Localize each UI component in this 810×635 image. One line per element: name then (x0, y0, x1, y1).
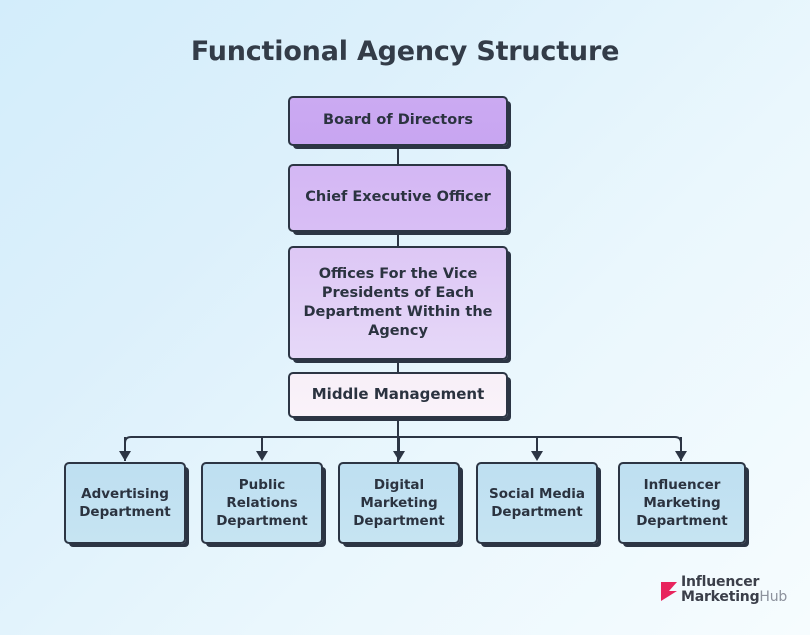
arrowhead-4 (675, 451, 687, 461)
brand-logo[interactable]: Influencer MarketingHub (660, 575, 787, 605)
node-label: Chief Executive Officer (298, 188, 498, 207)
node-label: Board of Directors (298, 111, 498, 130)
node-label: Digital Marketing Department (348, 476, 450, 530)
node-public-relations-department[interactable]: Public Relations Department (201, 462, 323, 544)
node-label: Public Relations Department (211, 476, 313, 530)
node-label: Middle Management (298, 385, 498, 405)
node-label: Social Media Department (486, 485, 588, 521)
logo-word-hub: Hub (759, 589, 787, 605)
edge-bus (125, 437, 681, 461)
diagram-canvas: Functional Agency Structure (0, 0, 810, 635)
arrowhead-2 (393, 451, 405, 461)
node-chief-executive-officer[interactable]: Chief Executive Officer (288, 164, 508, 232)
node-influencer-marketing-department[interactable]: Influencer Marketing Department (618, 462, 746, 544)
node-label: Advertising Department (74, 485, 176, 521)
node-label: Influencer Marketing Department (628, 476, 736, 530)
node-board-of-directors[interactable]: Board of Directors (288, 96, 508, 146)
page-title: Functional Agency Structure (0, 36, 810, 67)
node-social-media-department[interactable]: Social Media Department (476, 462, 598, 544)
logo-line-marketinghub: MarketingHub (681, 590, 787, 605)
node-digital-marketing-department[interactable]: Digital Marketing Department (338, 462, 460, 544)
arrowhead-3 (531, 451, 543, 461)
arrowhead-1 (256, 451, 268, 461)
node-vice-presidents-offices[interactable]: Offices For the Vice Presidents of Each … (288, 246, 508, 360)
node-advertising-department[interactable]: Advertising Department (64, 462, 186, 544)
pink-flag-icon (660, 580, 678, 602)
logo-wordmark: Influencer MarketingHub (681, 575, 787, 605)
node-middle-management[interactable]: Middle Management (288, 372, 508, 418)
logo-word-marketing: Marketing (681, 589, 759, 605)
arrowhead-0 (119, 451, 131, 461)
logo-line-influencer: Influencer (681, 575, 787, 590)
node-label: Offices For the Vice Presidents of Each … (298, 265, 498, 342)
